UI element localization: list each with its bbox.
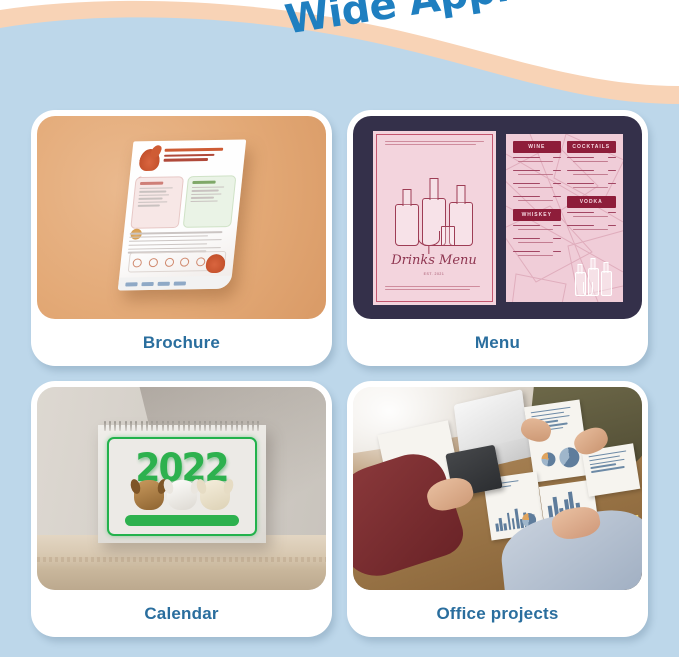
puppy-photo-group (134, 476, 230, 510)
pie-chart-graphic (541, 451, 557, 467)
menu-cover-bottom-text (385, 286, 484, 295)
page-header: Wide Application (0, 0, 679, 104)
menu-item (567, 225, 616, 234)
menu-item (513, 196, 562, 205)
tumbler-glass-icon (441, 226, 455, 246)
beagle-puppy-icon (134, 480, 164, 510)
menu-section-wine: WINE (513, 141, 562, 153)
bottle-icon (588, 268, 599, 296)
bottle-icon (395, 204, 419, 246)
card-label-menu: Menu (353, 319, 642, 366)
drinks-menu-title: Drinks Menu (376, 253, 493, 268)
card-label-calendar: Calendar (37, 590, 326, 637)
brochure-header (136, 146, 239, 174)
calendar-accent-bar (125, 515, 239, 526)
menu-item (513, 238, 562, 247)
menu-item (567, 212, 616, 221)
application-card-calendar[interactable]: 2022 Calendar (31, 381, 332, 637)
brochure-sheet-graphic: ? (117, 139, 246, 290)
calendar-page: 2022 (107, 437, 257, 536)
brochure-image: ? (37, 116, 326, 319)
application-card-menu[interactable]: Drinks Menu EST. 2021 (347, 110, 648, 366)
brochure-panel-solution (182, 175, 236, 228)
menu-item (567, 157, 616, 166)
drinks-menu-inside-page: WINE WHISKEY COCKTAILS (506, 134, 623, 302)
application-card-office-projects[interactable]: Office projects (347, 381, 648, 637)
drinks-menu-subtitle: EST. 2021 (376, 272, 493, 276)
cream-puppy-icon (200, 480, 230, 510)
application-card-grid: ? (31, 110, 648, 637)
cocktail-glass-icon (418, 231, 440, 246)
brochure-headline (163, 147, 239, 163)
white-puppy-icon (167, 480, 197, 510)
menu-section-whiskey: WHISKEY (513, 209, 562, 221)
brochure-panels (130, 175, 236, 228)
application-card-brochure[interactable]: ? (31, 110, 332, 366)
menu-item (513, 183, 562, 192)
calendar-image: 2022 (37, 387, 326, 590)
menu-cover-top-text (385, 141, 484, 150)
menu-column-left: WINE WHISKEY (513, 141, 562, 295)
wooden-shelf (37, 535, 326, 590)
menu-bottle-photo (573, 258, 617, 296)
menu-section-vodka: VODKA (567, 196, 616, 208)
brochure-footer-logos (117, 275, 231, 290)
office-projects-image (353, 387, 642, 590)
table-rows-graphic (589, 450, 631, 475)
card-label-brochure: Brochure (37, 319, 326, 366)
drinks-menu-cover-page: Drinks Menu EST. 2021 (373, 131, 496, 305)
menu-item (513, 170, 562, 179)
squirrel-icon (138, 148, 160, 170)
card-label-office-projects: Office projects (353, 590, 642, 637)
bottle-illustration (391, 180, 477, 246)
menu-image: Drinks Menu EST. 2021 (353, 116, 642, 319)
bottle-icon (601, 271, 612, 296)
menu-item (513, 251, 562, 260)
menu-item (513, 225, 562, 234)
brochure-panel-problem (130, 176, 184, 229)
spiral-binding-icon (104, 421, 260, 431)
menu-item (567, 183, 616, 192)
menu-item (513, 157, 562, 166)
menu-section-cocktails: COCKTAILS (567, 141, 616, 153)
menu-item (567, 170, 616, 179)
desk-calendar-graphic: 2022 (98, 425, 266, 543)
